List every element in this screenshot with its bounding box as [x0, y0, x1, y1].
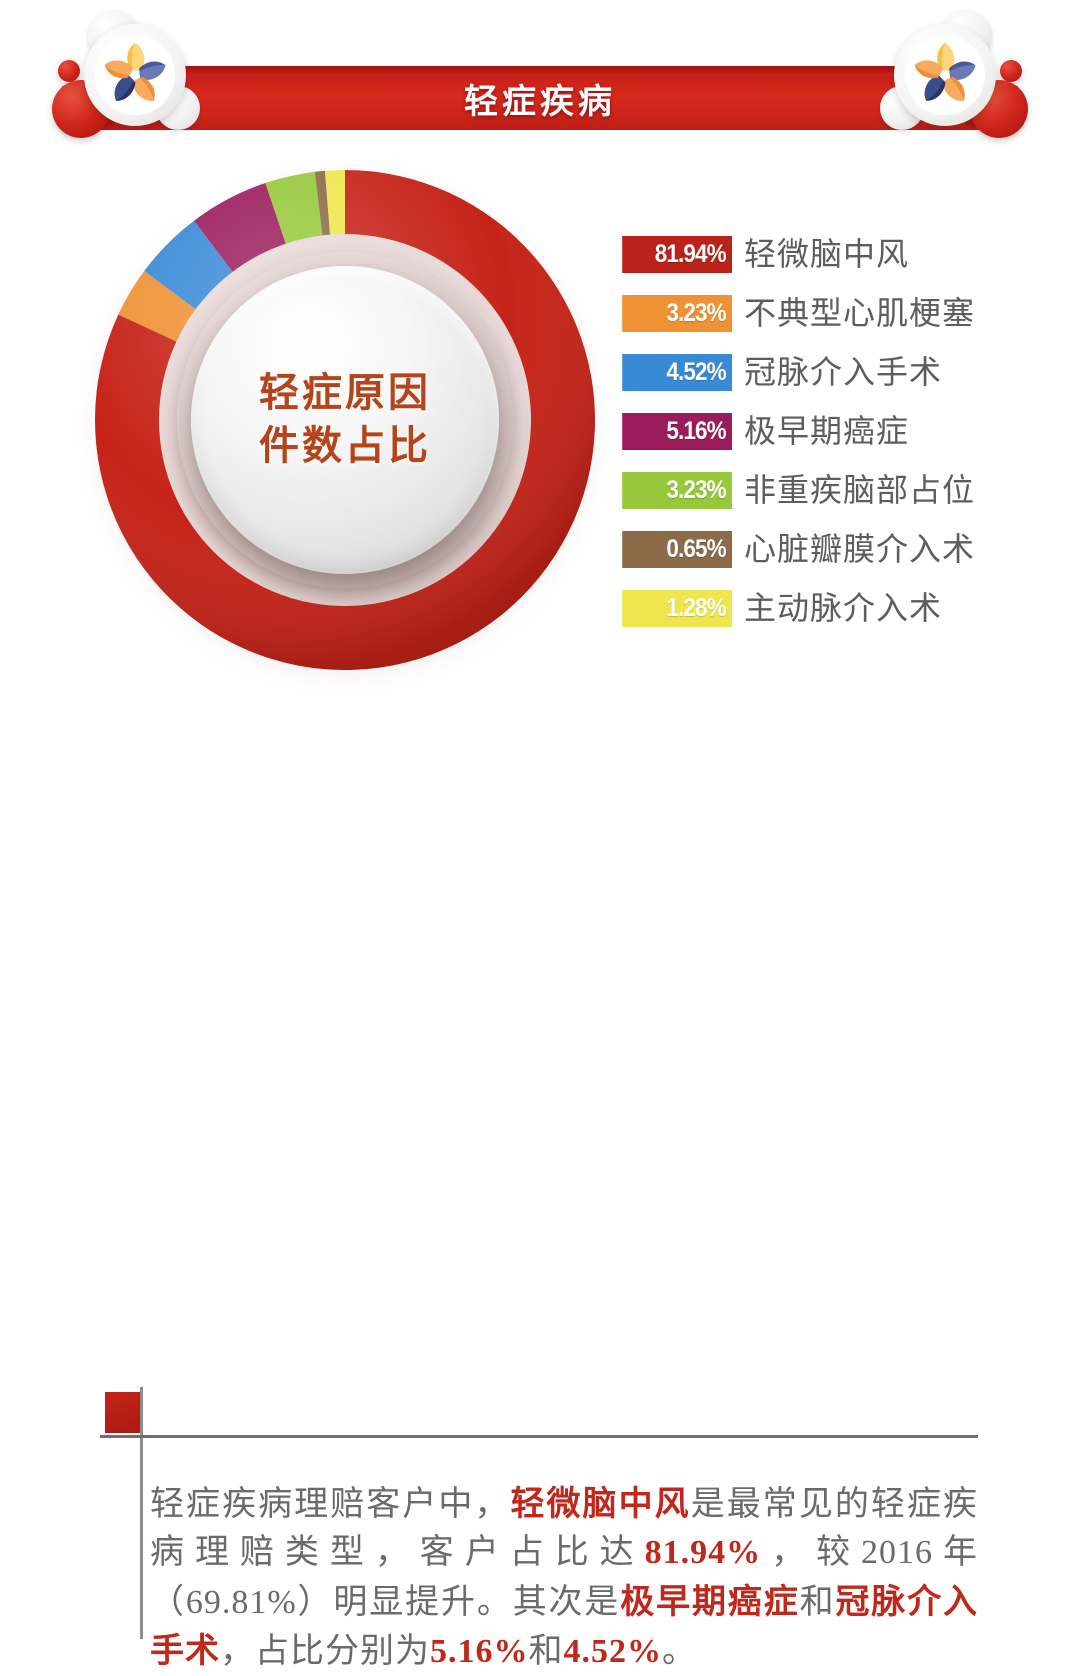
legend-value-swatch: 4.52% — [622, 354, 732, 391]
footer-number-5: 4.52% — [564, 1633, 663, 1670]
legend-value-swatch: 3.23% — [622, 295, 732, 332]
footer-text-7: ，占比分别为 — [220, 1632, 430, 1670]
red-sphere-icon — [1000, 60, 1022, 82]
footer-number-1: 81.94% — [645, 1534, 762, 1571]
footer-number-3: 69.81% — [186, 1584, 297, 1621]
ornament-left — [40, 0, 240, 175]
legend-label: 不典型心肌梗塞 — [744, 295, 975, 332]
horizontal-divider — [100, 1435, 978, 1438]
footer-highlight-1: 轻微脑中风 — [510, 1485, 690, 1523]
footer-number-2: 2016 — [861, 1534, 933, 1571]
legend-item[interactable]: 81.94%轻微脑中风 — [610, 236, 1060, 295]
footer-text-8: 和 — [529, 1632, 564, 1670]
footer-text-3: ，较 — [761, 1533, 861, 1571]
footer-text-5: ）明显提升。其次是 — [297, 1583, 621, 1621]
legend-item[interactable]: 0.65%心脏瓣膜介入术 — [610, 531, 1060, 590]
pinwheel-star-logo-icon — [84, 24, 186, 126]
footer-number-4: 5.16% — [430, 1633, 529, 1670]
red-sphere-icon — [58, 60, 80, 82]
legend-label: 心脏瓣膜介入术 — [744, 531, 975, 568]
legend-item[interactable]: 5.16%极早期癌症 — [610, 413, 1060, 472]
red-square-marker — [105, 1392, 141, 1433]
pinwheel-star-logo-icon — [894, 24, 996, 126]
legend-label: 冠脉介入手术 — [744, 354, 942, 391]
vertical-divider — [140, 1387, 143, 1639]
footer-note: 轻症疾病理赔客户中，轻微脑中风是最常见的轻症疾病理赔类型，客户占比达81.94%… — [0, 690, 1080, 949]
legend-label: 轻微脑中风 — [744, 236, 909, 273]
footer-text-9: 。 — [662, 1632, 697, 1670]
legend-value-swatch: 5.16% — [622, 413, 732, 450]
legend-value-swatch: 81.94% — [622, 236, 732, 273]
footer-highlight-2: 极早期癌症 — [620, 1583, 799, 1621]
legend: 81.94%轻微脑中风3.23%不典型心肌梗塞4.52%冠脉介入手术5.16%极… — [610, 236, 1060, 649]
footer-paragraph: 轻症疾病理赔客户中，轻微脑中风是最常见的轻症疾病理赔类型，客户占比达81.94%… — [150, 1480, 978, 1676]
legend-item[interactable]: 4.52%冠脉介入手术 — [610, 354, 1060, 413]
footer-text-1: 轻症疾病理赔客户中， — [150, 1485, 510, 1523]
legend-value-swatch: 3.23% — [622, 472, 732, 509]
infographic-root: 轻症疾病 — [0, 0, 1080, 949]
legend-item[interactable]: 1.28%主动脉介入术 — [610, 590, 1060, 649]
legend-label: 主动脉介入术 — [744, 590, 942, 627]
ornament-right — [840, 0, 1040, 175]
legend-item[interactable]: 3.23%非重疾脑部占位 — [610, 472, 1060, 531]
legend-item[interactable]: 3.23%不典型心肌梗塞 — [610, 295, 1060, 354]
donut-center-label: 轻症原因 件数占比 — [191, 266, 499, 574]
legend-value-swatch: 1.28% — [622, 590, 732, 627]
donut-center-line-2: 件数占比 — [259, 420, 431, 473]
header-banner: 轻症疾病 — [0, 0, 1080, 175]
legend-label: 极早期癌症 — [744, 413, 909, 450]
legend-label: 非重疾脑部占位 — [744, 472, 975, 509]
legend-value-swatch: 0.65% — [622, 531, 732, 568]
donut-chart: 轻症原因 件数占比 — [95, 170, 595, 670]
donut-center-line-1: 轻症原因 — [259, 367, 431, 420]
footer-text-6: 和 — [800, 1583, 836, 1621]
